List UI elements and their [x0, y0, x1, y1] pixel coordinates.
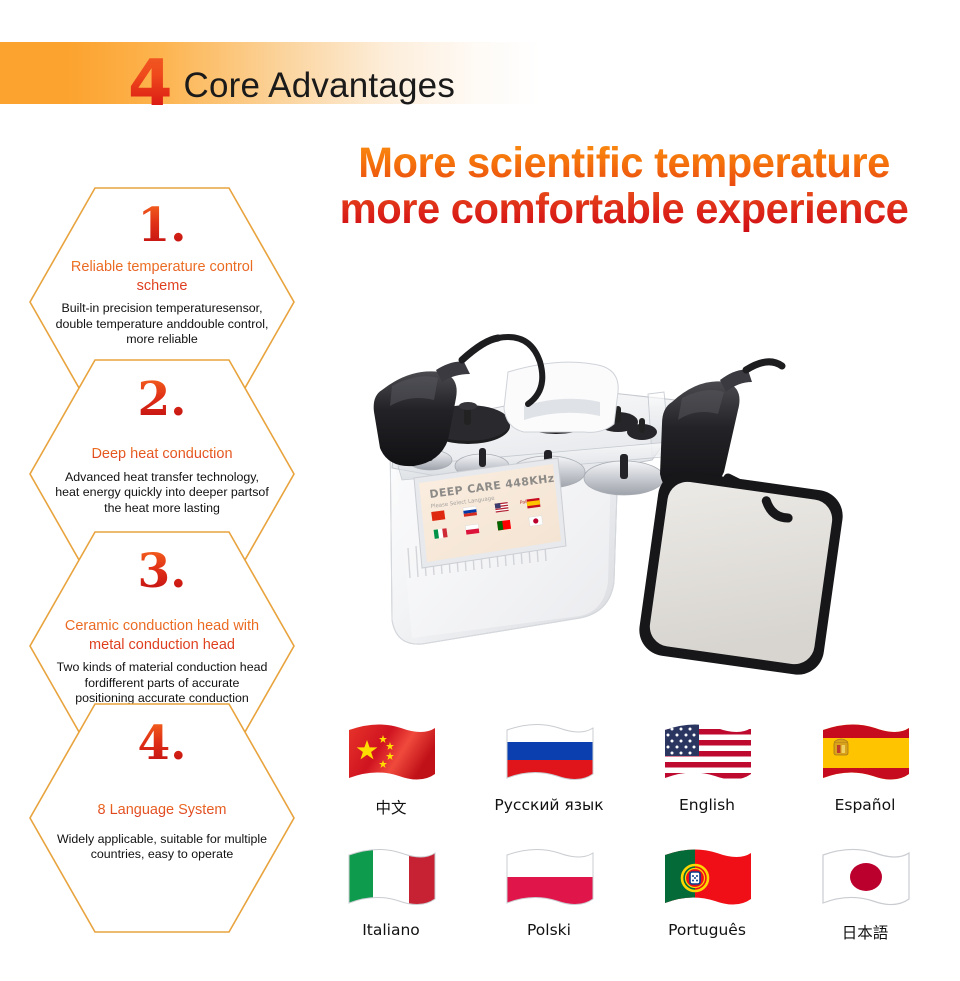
japan-flag-icon: [811, 843, 919, 915]
advantage-title: Ceramic conduction head with metal condu…: [57, 617, 267, 654]
advantage-body: Widely applicable, suitable for multiple…: [54, 832, 270, 863]
language-label: Русский язык: [494, 796, 603, 814]
advantage-number: 4.: [137, 720, 186, 767]
product-advantages-page: 4 Core Advantages More scientific temper…: [0, 0, 960, 981]
advantage-number: 2.: [137, 376, 186, 423]
device-photo: DEEP CARE 448KHz Please Select Language …: [352, 282, 912, 702]
language-item-polish[interactable]: Polski: [470, 843, 628, 968]
russia-flag-icon: [495, 718, 603, 790]
language-item-russian[interactable]: Русский язык: [470, 718, 628, 843]
return-pad: [636, 468, 846, 678]
usa-flag-icon: [653, 718, 761, 790]
language-item-spanish[interactable]: Español: [786, 718, 944, 843]
advantage-body: Built-in precision temperaturesensor, do…: [54, 301, 270, 348]
page-title: Core Advantages: [184, 66, 456, 106]
advantage-title: 8 Language System: [98, 801, 227, 820]
language-label: Português: [668, 921, 746, 939]
headline-line-1: More scientific temperature: [327, 142, 921, 186]
language-label: Italiano: [362, 921, 420, 939]
language-label: Polski: [527, 921, 571, 939]
advantage-title: Reliable temperature control scheme: [57, 258, 267, 295]
carry-handle: [504, 362, 618, 432]
advantages-list: 1. Reliable temperature control scheme B…: [28, 186, 328, 926]
advantage-number: 1.: [137, 202, 186, 249]
headline: More scientific temperature more comfort…: [318, 142, 930, 232]
spain-flag-icon: [811, 718, 919, 790]
language-item-japanese[interactable]: 日本語: [786, 843, 944, 968]
china-flag-icon: [337, 718, 445, 790]
language-item-chinese[interactable]: 中文: [312, 718, 470, 843]
portugal-flag-icon: [653, 843, 761, 915]
language-item-portuguese[interactable]: Português: [628, 843, 786, 968]
advantage-title: Deep heat conduction: [91, 445, 232, 464]
advantage-number: 3.: [137, 548, 186, 595]
language-label: Español: [835, 796, 896, 814]
language-label: 中文: [375, 796, 406, 818]
advantage-body: Advanced heat transfer technology, heat …: [54, 470, 270, 517]
header-number: 4: [128, 52, 172, 116]
language-label: English: [679, 796, 735, 814]
language-item-italian[interactable]: Italiano: [312, 843, 470, 968]
language-flag-grid: 中文 Русский язык: [312, 718, 944, 968]
italy-flag-icon: [337, 843, 445, 915]
advantage-card-4: 4. 8 Language System Widely applicable, …: [28, 702, 296, 934]
poland-flag-icon: [495, 843, 603, 915]
advantage-body: Two kinds of material conduction head fo…: [54, 660, 270, 707]
language-label: 日本語: [842, 921, 889, 943]
header: 4 Core Advantages: [0, 20, 700, 110]
language-item-english[interactable]: English: [628, 718, 786, 843]
headline-line-2: more comfortable experience: [327, 188, 921, 232]
